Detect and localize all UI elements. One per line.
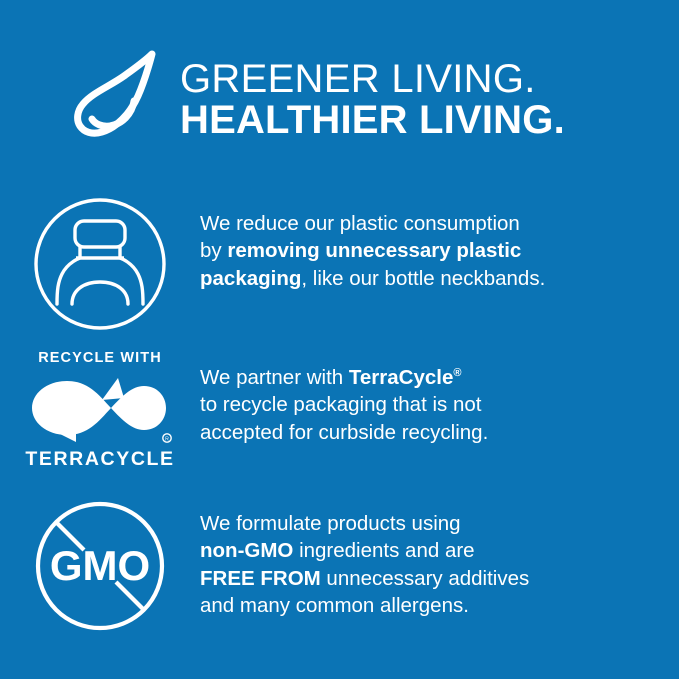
claim-row-non-gmo: GMO We formulate products usingnon-GMO i… [0,498,679,634]
eco-claims-poster: GREENER LIVING. HEALTHIER LIVING. [0,0,679,679]
icon-cell: GMO [0,498,200,634]
icon-cell [0,196,200,332]
plastic-bottle-neckband-icon [32,196,168,332]
terracycle-top-text: RECYCLE WITH [38,350,162,366]
text-cell: We reduce our plastic consumptionby remo… [200,196,679,292]
icon-cell: RECYCLE WITH R TERRACYCLE [0,350,200,471]
no-gmo-icon: GMO [32,498,168,634]
gmo-label: GMO [50,542,150,589]
poster-header: GREENER LIVING. HEALTHIER LIVING. [74,44,634,156]
claim-row-terracycle: RECYCLE WITH R TERRACYCLE [0,350,679,471]
claim-text: We formulate products usingnon-GMO ingre… [200,510,661,619]
terracycle-bottom-text: TERRACYCLE [25,448,174,471]
text-cell: We formulate products usingnon-GMO ingre… [200,498,679,619]
infinity-recycle-loop-icon: R [26,370,174,446]
headline-line-1: GREENER LIVING. [180,59,565,100]
claim-text: We reduce our plastic consumptionby remo… [200,210,661,292]
leaf-icon [74,48,166,152]
terracycle-logo-icon: RECYCLE WITH R TERRACYCLE [26,350,174,471]
headline-line-2: HEALTHIER LIVING. [180,100,565,141]
claim-row-plastic: We reduce our plastic consumptionby remo… [0,196,679,332]
svg-text:R: R [165,437,169,443]
claim-text: We partner with TerraCycle®to recycle pa… [200,364,661,446]
headline-group: GREENER LIVING. HEALTHIER LIVING. [180,59,565,141]
text-cell: We partner with TerraCycle®to recycle pa… [200,350,679,446]
